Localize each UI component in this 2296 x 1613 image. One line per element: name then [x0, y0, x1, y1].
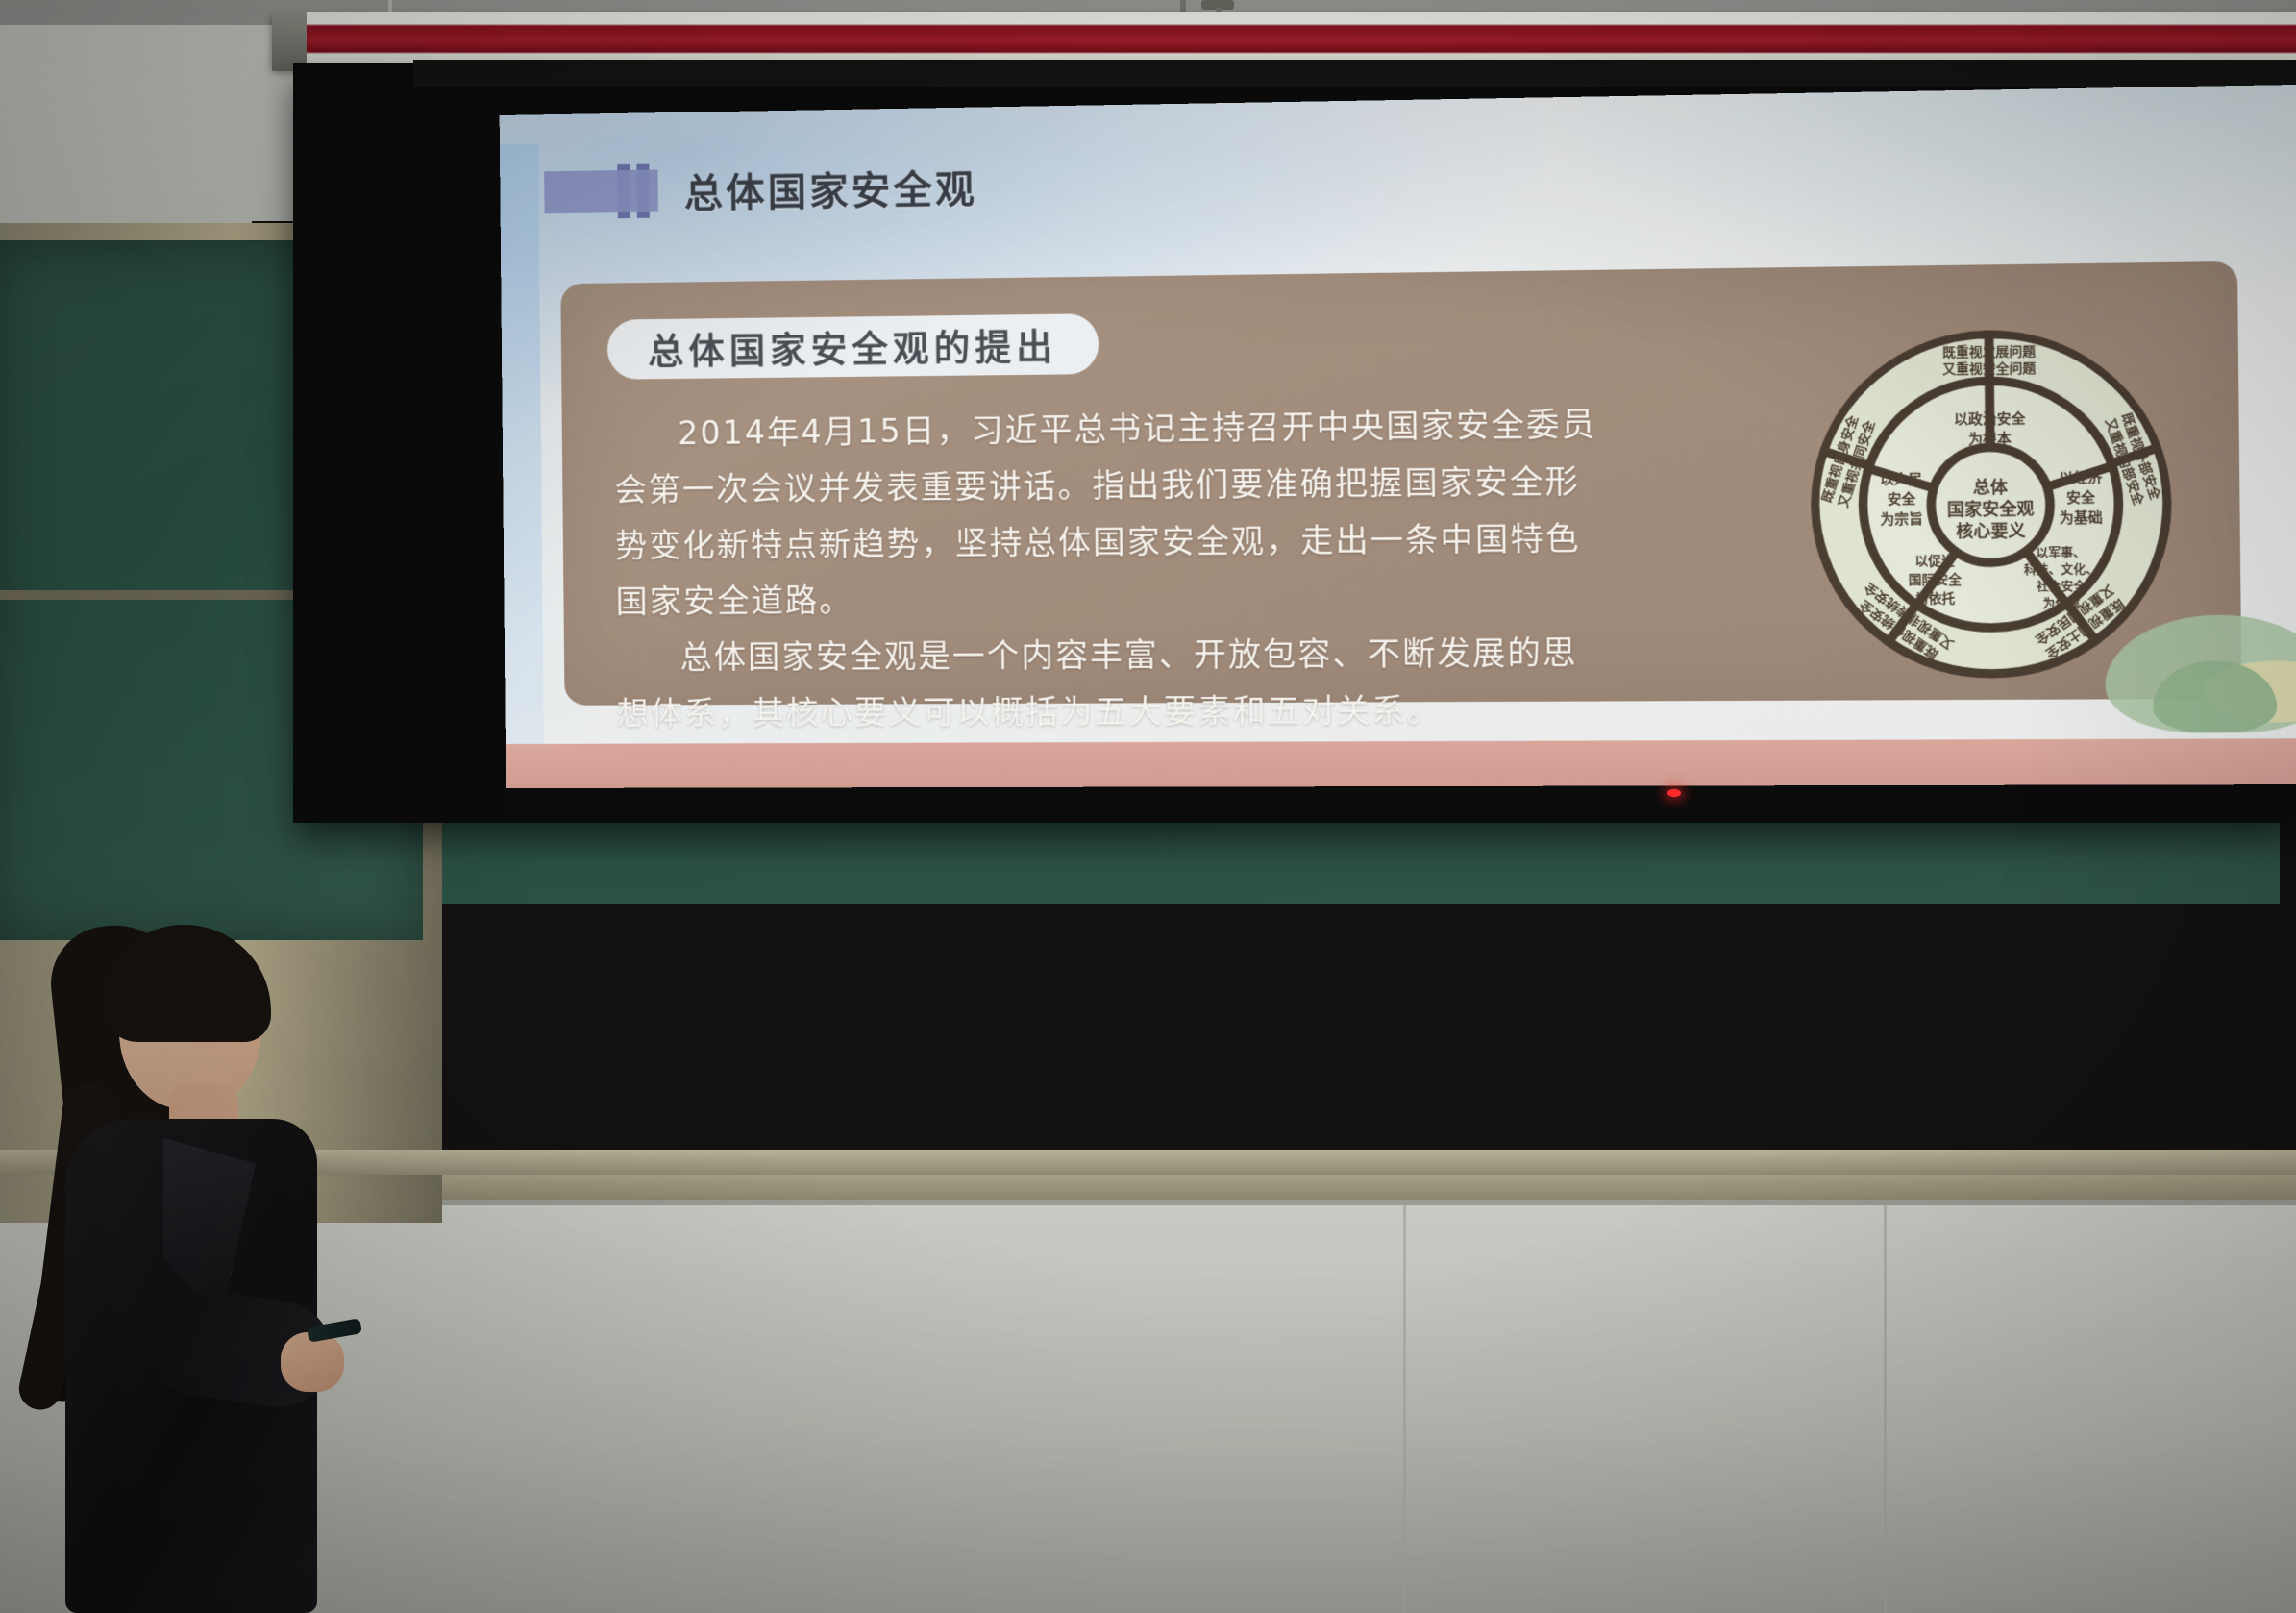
title-block-accent	[544, 169, 658, 213]
body-text: 2014年4月15日，习近平总书记主持召开中央国家安全委员会第一次会议并发表重要…	[614, 396, 1603, 742]
center-line-2: 国家安全观	[1947, 499, 2035, 520]
center-line-1: 总体	[1973, 477, 2010, 498]
slide-bottom-strip	[506, 738, 2296, 788]
slide-left-accent-bar	[500, 143, 544, 779]
page-title: 总体国家安全观	[684, 158, 978, 218]
inner-label-4c: 为依托	[1915, 590, 1956, 607]
inner-label-2a: 以经济	[2059, 469, 2103, 486]
total-national-security-wheel-diagram: 总体 国家安全观 核心要义 以政治安全 为根本 以经济 安全 为基础 以军事、 …	[1805, 324, 2177, 684]
presentation-slide: 总体国家安全观 总体国家安全观的提出 2014年4月15日，习近平总书记主持召开…	[500, 84, 2296, 788]
inner-label-4b: 国际安全	[1909, 572, 1963, 588]
outer-label-1a: 既重视发展问题	[1942, 343, 2037, 360]
lower-wall-cabinets	[0, 1200, 2296, 1613]
laser-pointer-dot	[1667, 789, 1681, 797]
inner-label-1b: 为根本	[1968, 431, 2012, 448]
section-heading-pill: 总体国家安全观的提出	[607, 313, 1099, 380]
inner-label-1a: 以政治安全	[1954, 410, 2027, 428]
body-paragraph-1: 2014年4月15日，习近平总书记主持召开中央国家安全委员会第一次会议并发表重要…	[614, 396, 1602, 630]
inner-label-3b: 科技、文化、	[2024, 562, 2098, 578]
inner-label-3a: 以军事、	[2037, 545, 2086, 560]
center-line-3: 核心要义	[1956, 521, 2026, 542]
inner-label-2c: 为基础	[2060, 509, 2103, 527]
slide-title-row: 总体国家安全观	[544, 158, 977, 220]
classroom-scene: 总体国家安全观 总体国家安全观的提出 2014年4月15日，习近平总书记主持召开…	[0, 0, 2296, 1613]
projector-screen-top-frame	[413, 60, 2296, 87]
presenter	[19, 915, 336, 1613]
content-card: 总体国家安全观的提出 2014年4月15日，习近平总书记主持召开中央国家安全委员…	[560, 261, 2241, 706]
chalk-tray	[0, 1150, 2296, 1175]
inner-label-2b: 安全	[2066, 489, 2096, 507]
section-heading: 总体国家安全观的提出	[648, 318, 1057, 375]
inner-label-4a: 以促进	[1914, 553, 1955, 569]
upper-wall-left-panel	[0, 0, 308, 245]
cabinet-seam	[1884, 1205, 1887, 1613]
inner-label-5c: 为宗旨	[1880, 510, 1923, 528]
inner-label-3c: 社会安全	[2036, 579, 2087, 594]
outer-label-1b: 又重视安全问题	[1941, 360, 2037, 378]
body-paragraph-2: 总体国家安全观是一个内容丰富、开放包容、不断发展的思想体系，其核心要义可以概括为…	[616, 625, 1603, 742]
projector-screen-end-cap	[272, 12, 307, 71]
inner-label-5a: 以人民	[1880, 471, 1923, 488]
cabinet-seam	[1403, 1205, 1406, 1613]
inner-label-5b: 安全	[1888, 491, 1917, 509]
